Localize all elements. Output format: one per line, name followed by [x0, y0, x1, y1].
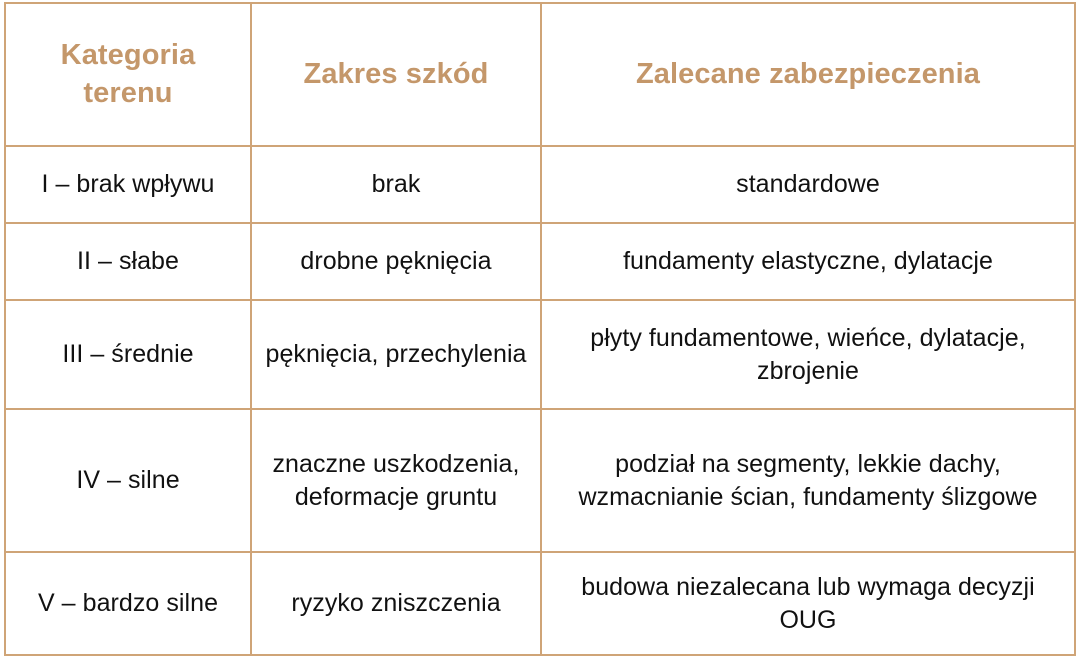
cell-scope: znaczne uszkodzenia, deformacje gruntu [251, 409, 541, 552]
cell-scope: drobne pęknięcia [251, 223, 541, 300]
mining-damage-category-table: Kategoria terenu Zakres szkód Zalecane z… [4, 2, 1076, 656]
cell-measures: budowa niezalecana lub wymaga decyzji OU… [541, 552, 1075, 655]
cell-measures: fundamenty elastyczne, dylatacje [541, 223, 1075, 300]
table-row: V – bardzo silne ryzyko zniszczenia budo… [5, 552, 1075, 655]
table-body: I – brak wpływu brak standardowe II – sł… [5, 146, 1075, 655]
table-row: II – słabe drobne pęknięcia fundamenty e… [5, 223, 1075, 300]
cell-measures: standardowe [541, 146, 1075, 223]
table-row: III – średnie pęknięcia, przechylenia pł… [5, 300, 1075, 409]
column-header-measures: Zalecane zabezpieczenia [541, 3, 1075, 146]
table-row: I – brak wpływu brak standardowe [5, 146, 1075, 223]
cell-measures: płyty fundamentowe, wieńce, dylatacje, z… [541, 300, 1075, 409]
column-header-category: Kategoria terenu [5, 3, 251, 146]
cell-scope: pęknięcia, przechylenia [251, 300, 541, 409]
cell-scope: brak [251, 146, 541, 223]
cell-category: V – bardzo silne [5, 552, 251, 655]
cell-category: II – słabe [5, 223, 251, 300]
cell-category: IV – silne [5, 409, 251, 552]
cell-measures: podział na segmenty, lekkie dachy, wzmac… [541, 409, 1075, 552]
column-header-scope: Zakres szkód [251, 3, 541, 146]
cell-scope: ryzyko zniszczenia [251, 552, 541, 655]
table-header-row: Kategoria terenu Zakres szkód Zalecane z… [5, 3, 1075, 146]
table-header: Kategoria terenu Zakres szkód Zalecane z… [5, 3, 1075, 146]
cell-category: I – brak wpływu [5, 146, 251, 223]
cell-category: III – średnie [5, 300, 251, 409]
table-row: IV – silne znaczne uszkodzenia, deformac… [5, 409, 1075, 552]
